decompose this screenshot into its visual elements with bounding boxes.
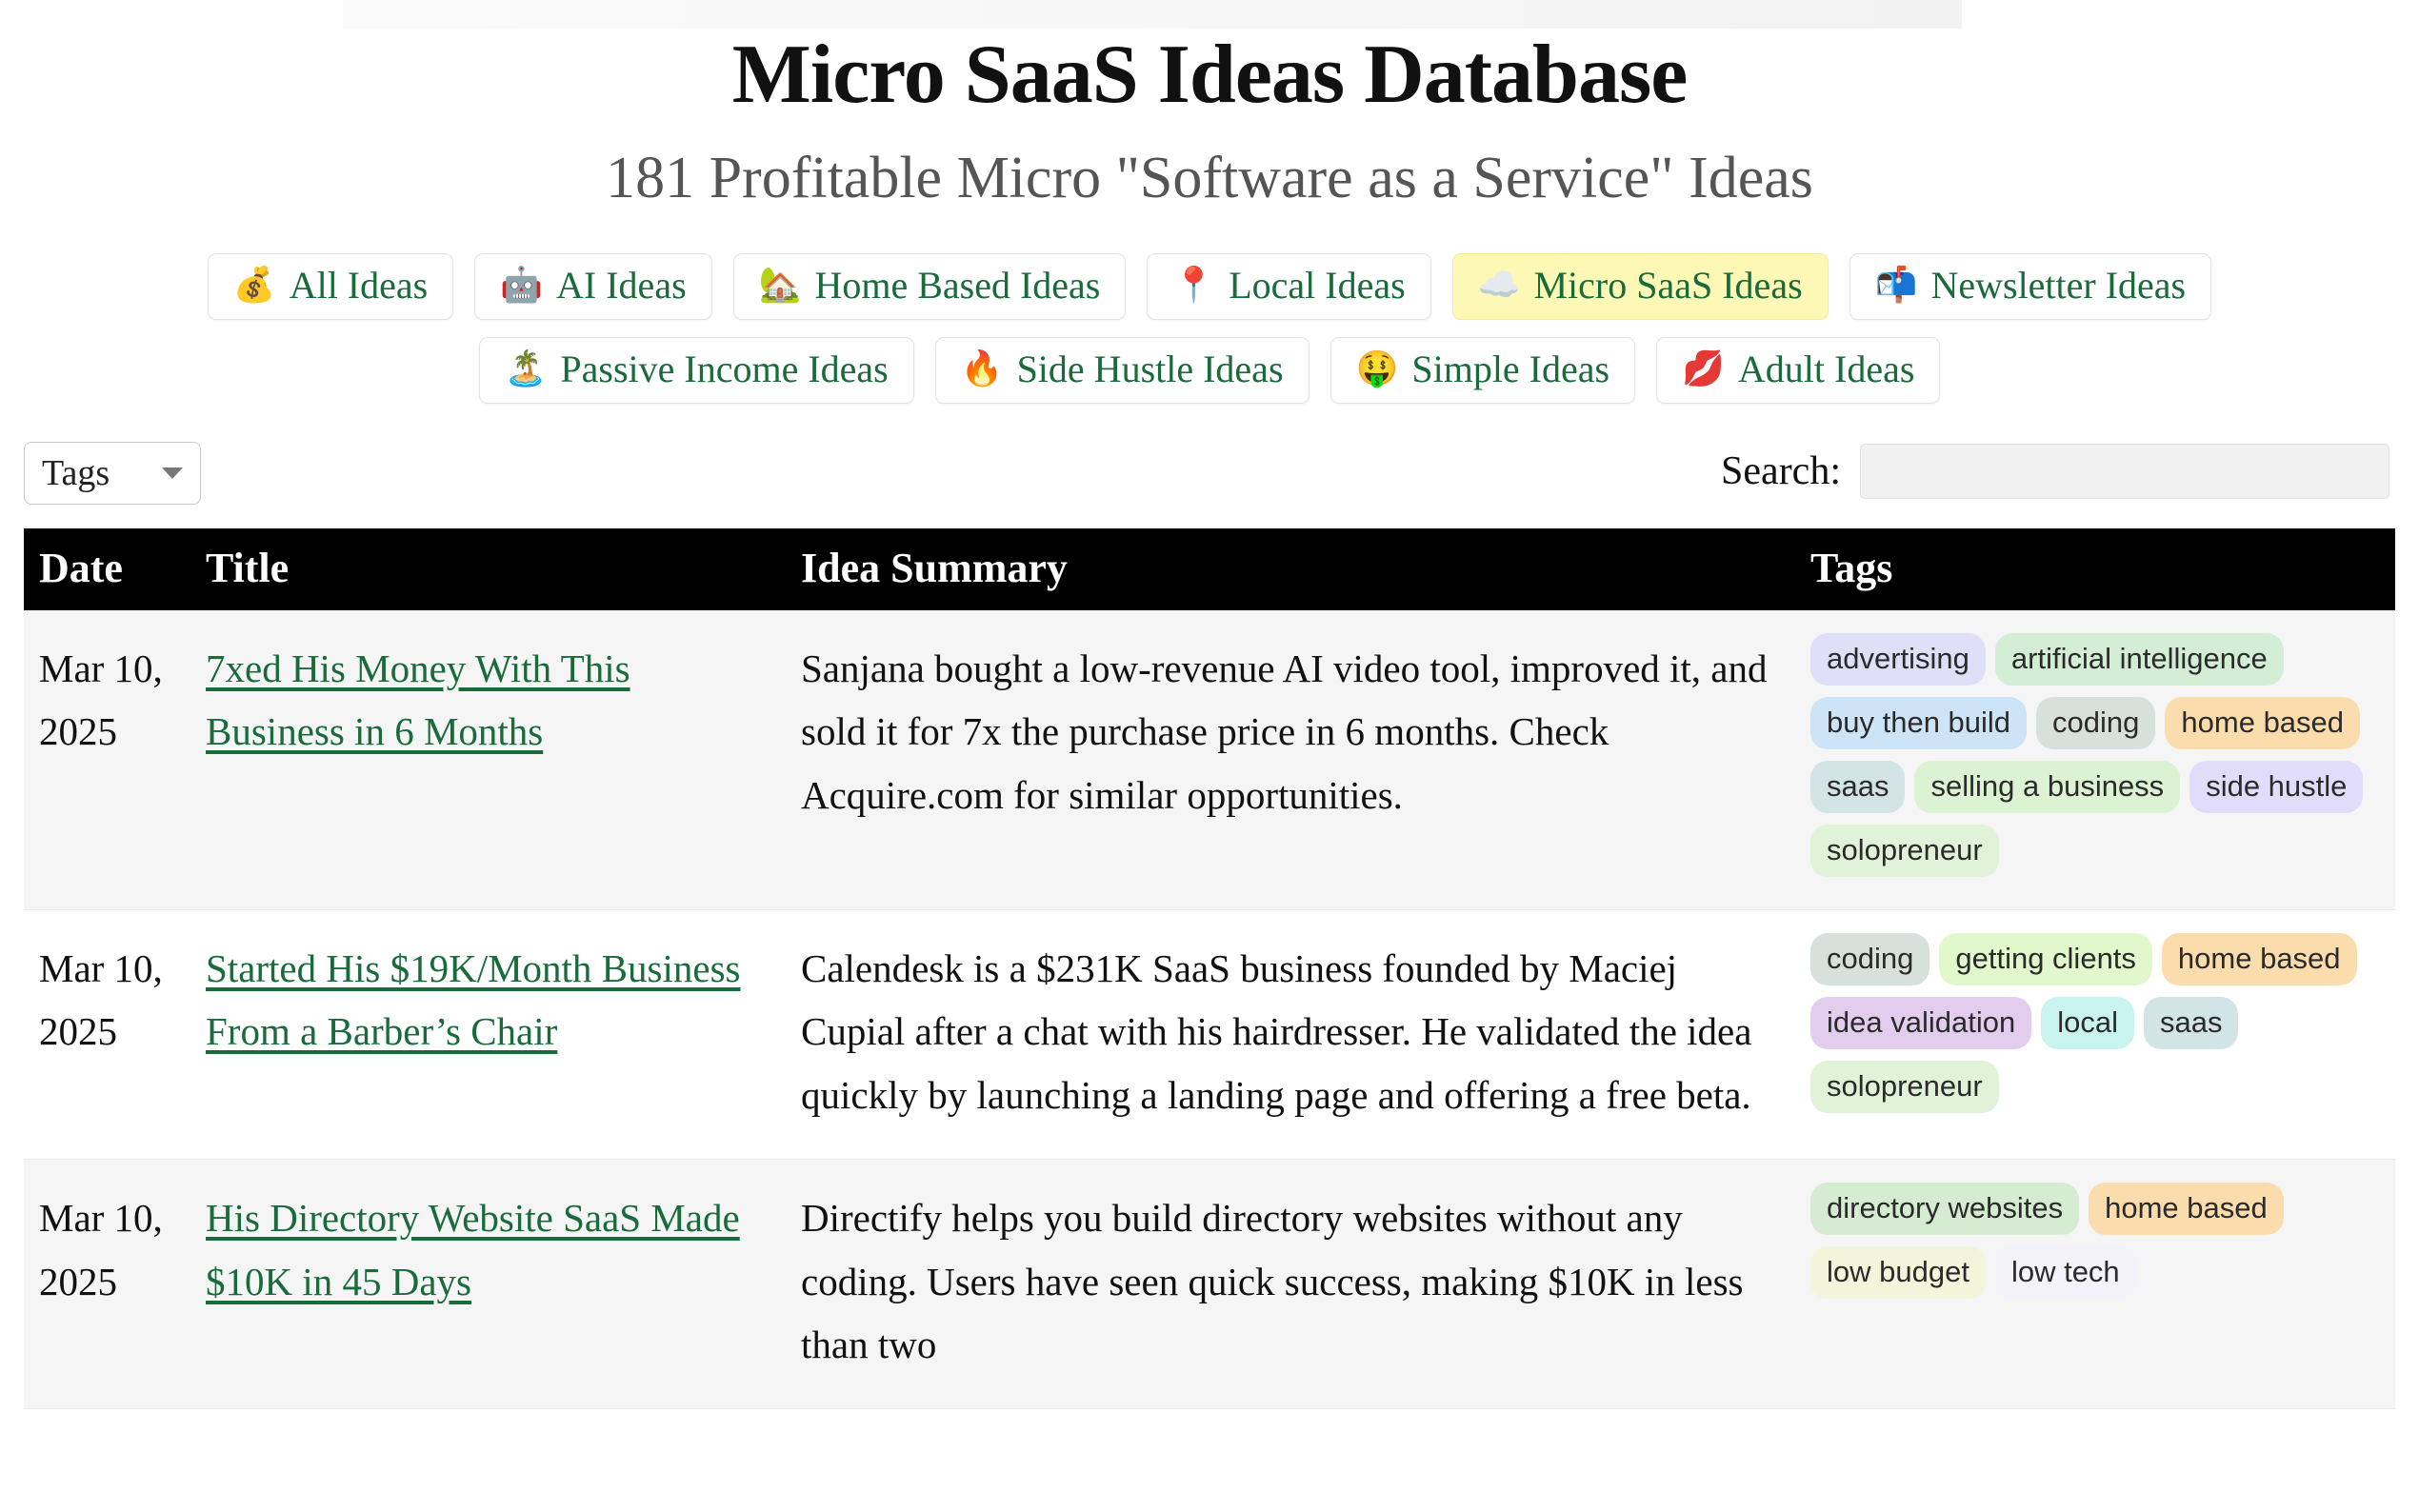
nav-button-label: Local Ideas [1229, 267, 1405, 305]
fire-icon: 🔥 [961, 352, 1004, 387]
tag-pill[interactable]: home based [2089, 1183, 2284, 1235]
column-header-title[interactable]: Title [190, 528, 786, 609]
idea-title-link[interactable]: His Directory Website SaaS Made $10K in … [206, 1196, 740, 1303]
search-input[interactable] [1860, 444, 2389, 499]
cell-title: His Directory Website SaaS Made $10K in … [190, 1160, 786, 1409]
tag-pill[interactable]: solopreneur [1810, 1061, 1999, 1113]
cell-idea-summary: Calendesk is a $231K SaaS business found… [786, 909, 1795, 1159]
table-header: Date Title Idea Summary Tags [24, 528, 2395, 609]
idea-title-link[interactable]: Started His $19K/Month Business From a B… [206, 946, 741, 1053]
table-row: Mar 10, 2025Started His $19K/Month Busin… [24, 909, 2395, 1159]
table-controls: Tags Search: [24, 442, 2395, 508]
money-mouth-face-icon: 🤑 [1356, 352, 1399, 387]
page-subtitle: 181 Profitable Micro "Software as a Serv… [0, 119, 2419, 209]
cell-date: Mar 10, 2025 [24, 909, 190, 1159]
cell-title: Started His $19K/Month Business From a B… [190, 909, 786, 1159]
tag-pill[interactable]: home based [2162, 933, 2357, 985]
nav-button-label: All Ideas [290, 267, 429, 305]
tag-pill[interactable]: saas [1810, 761, 1905, 813]
table-header-row: Date Title Idea Summary Tags [24, 528, 2395, 609]
search-area: Search: [1721, 444, 2389, 499]
nav-button-simple-ideas[interactable]: 🤑Simple Ideas [1330, 337, 1636, 404]
tag-pill[interactable]: directory websites [1810, 1183, 2079, 1235]
tags-filter-label: Tags [42, 452, 110, 494]
nav-button-adult-ideas[interactable]: 💋Adult Ideas [1656, 337, 1940, 404]
tag-pill[interactable]: side hustle [2189, 761, 2363, 813]
idea-title-link[interactable]: 7xed His Money With This Business in 6 M… [206, 647, 630, 753]
chevron-down-icon [162, 468, 183, 479]
nav-button-label: Simple Ideas [1411, 350, 1609, 388]
cell-date: Mar 10, 2025 [24, 610, 190, 910]
nav-button-label: Newsletter Ideas [1930, 267, 2186, 305]
page-root: Micro SaaS Ideas Database 181 Profitable… [0, 0, 2419, 1512]
tag-pill[interactable]: saas [2144, 997, 2238, 1049]
table-row: Mar 10, 2025His Directory Website SaaS M… [24, 1160, 2395, 1409]
tag-pill[interactable]: low budget [1810, 1246, 1986, 1299]
money-bag-icon: 💰 [233, 269, 276, 303]
category-nav: 💰All Ideas🤖AI Ideas🏡Home Based Ideas📍Loc… [76, 253, 2343, 404]
desert-island-icon: 🏝️ [505, 352, 548, 387]
tag-pill[interactable]: solopreneur [1810, 825, 1999, 877]
house-with-garden-icon: 🏡 [759, 269, 802, 303]
round-pushpin-icon: 📍 [1172, 269, 1215, 303]
nav-button-label: Side Hustle Ideas [1017, 350, 1284, 388]
tags-filter-select[interactable]: Tags [24, 442, 201, 505]
nav-button-side-hustle-ideas[interactable]: 🔥Side Hustle Ideas [935, 337, 1309, 404]
nav-button-label: Micro SaaS Ideas [1533, 267, 1802, 305]
cell-idea-summary: Sanjana bought a low-revenue AI video to… [786, 610, 1795, 910]
ideas-table: Date Title Idea Summary Tags Mar 10, 202… [24, 528, 2395, 1409]
tag-list: codinggetting clientshome basedidea vali… [1810, 933, 2380, 1113]
column-header-date[interactable]: Date [24, 528, 190, 609]
table-body: Mar 10, 20257xed His Money With This Bus… [24, 610, 2395, 1409]
tag-pill[interactable]: coding [1810, 933, 1929, 985]
column-header-idea-summary[interactable]: Idea Summary [786, 528, 1795, 609]
tag-pill[interactable]: home based [2165, 697, 2360, 749]
cell-title: 7xed His Money With This Business in 6 M… [190, 610, 786, 910]
nav-button-label: AI Ideas [556, 267, 687, 305]
tag-list: directory websiteshome basedlow budgetlo… [1810, 1183, 2380, 1299]
nav-button-label: Home Based Ideas [814, 267, 1100, 305]
cell-tags: directory websiteshome basedlow budgetlo… [1795, 1160, 2395, 1409]
cell-tags: advertisingartificial intelligencebuy th… [1795, 610, 2395, 910]
nav-button-micro-saas-ideas[interactable]: ☁️Micro SaaS Ideas [1452, 253, 1829, 320]
tag-list: advertisingartificial intelligencebuy th… [1810, 633, 2380, 877]
tag-pill[interactable]: idea validation [1810, 997, 2031, 1049]
search-label: Search: [1721, 448, 1841, 494]
kiss-mark-icon: 💋 [1682, 352, 1725, 387]
tag-pill[interactable]: artificial intelligence [1995, 633, 2284, 686]
cell-idea-summary: Directify helps you build directory webs… [786, 1160, 1795, 1409]
tag-pill[interactable]: coding [2036, 697, 2155, 749]
nav-button-label: Adult Ideas [1738, 350, 1915, 388]
table-row: Mar 10, 20257xed His Money With This Bus… [24, 610, 2395, 910]
nav-button-home-based-ideas[interactable]: 🏡Home Based Ideas [733, 253, 1127, 320]
nav-button-newsletter-ideas[interactable]: 📬Newsletter Ideas [1849, 253, 2211, 320]
tag-pill[interactable]: buy then build [1810, 697, 2027, 749]
tag-pill[interactable]: local [2041, 997, 2134, 1049]
tag-pill[interactable]: low tech [1995, 1246, 2136, 1299]
nav-button-ai-ideas[interactable]: 🤖AI Ideas [474, 253, 711, 320]
tag-pill[interactable]: advertising [1810, 633, 1986, 686]
nav-button-all-ideas[interactable]: 💰All Ideas [208, 253, 453, 320]
mailbox-icon: 📬 [1875, 269, 1918, 303]
robot-icon: 🤖 [500, 269, 543, 303]
cell-date: Mar 10, 2025 [24, 1160, 190, 1409]
page-title: Micro SaaS Ideas Database [0, 0, 2419, 119]
nav-button-passive-income-ideas[interactable]: 🏝️Passive Income Ideas [479, 337, 914, 404]
cloud-icon: ☁️ [1478, 269, 1521, 303]
nav-button-label: Passive Income Ideas [560, 350, 888, 388]
tag-pill[interactable]: selling a business [1914, 761, 2180, 813]
column-header-tags[interactable]: Tags [1795, 528, 2395, 609]
cell-tags: codinggetting clientshome basedidea vali… [1795, 909, 2395, 1159]
tag-pill[interactable]: getting clients [1939, 933, 2152, 985]
nav-button-local-ideas[interactable]: 📍Local Ideas [1147, 253, 1430, 320]
